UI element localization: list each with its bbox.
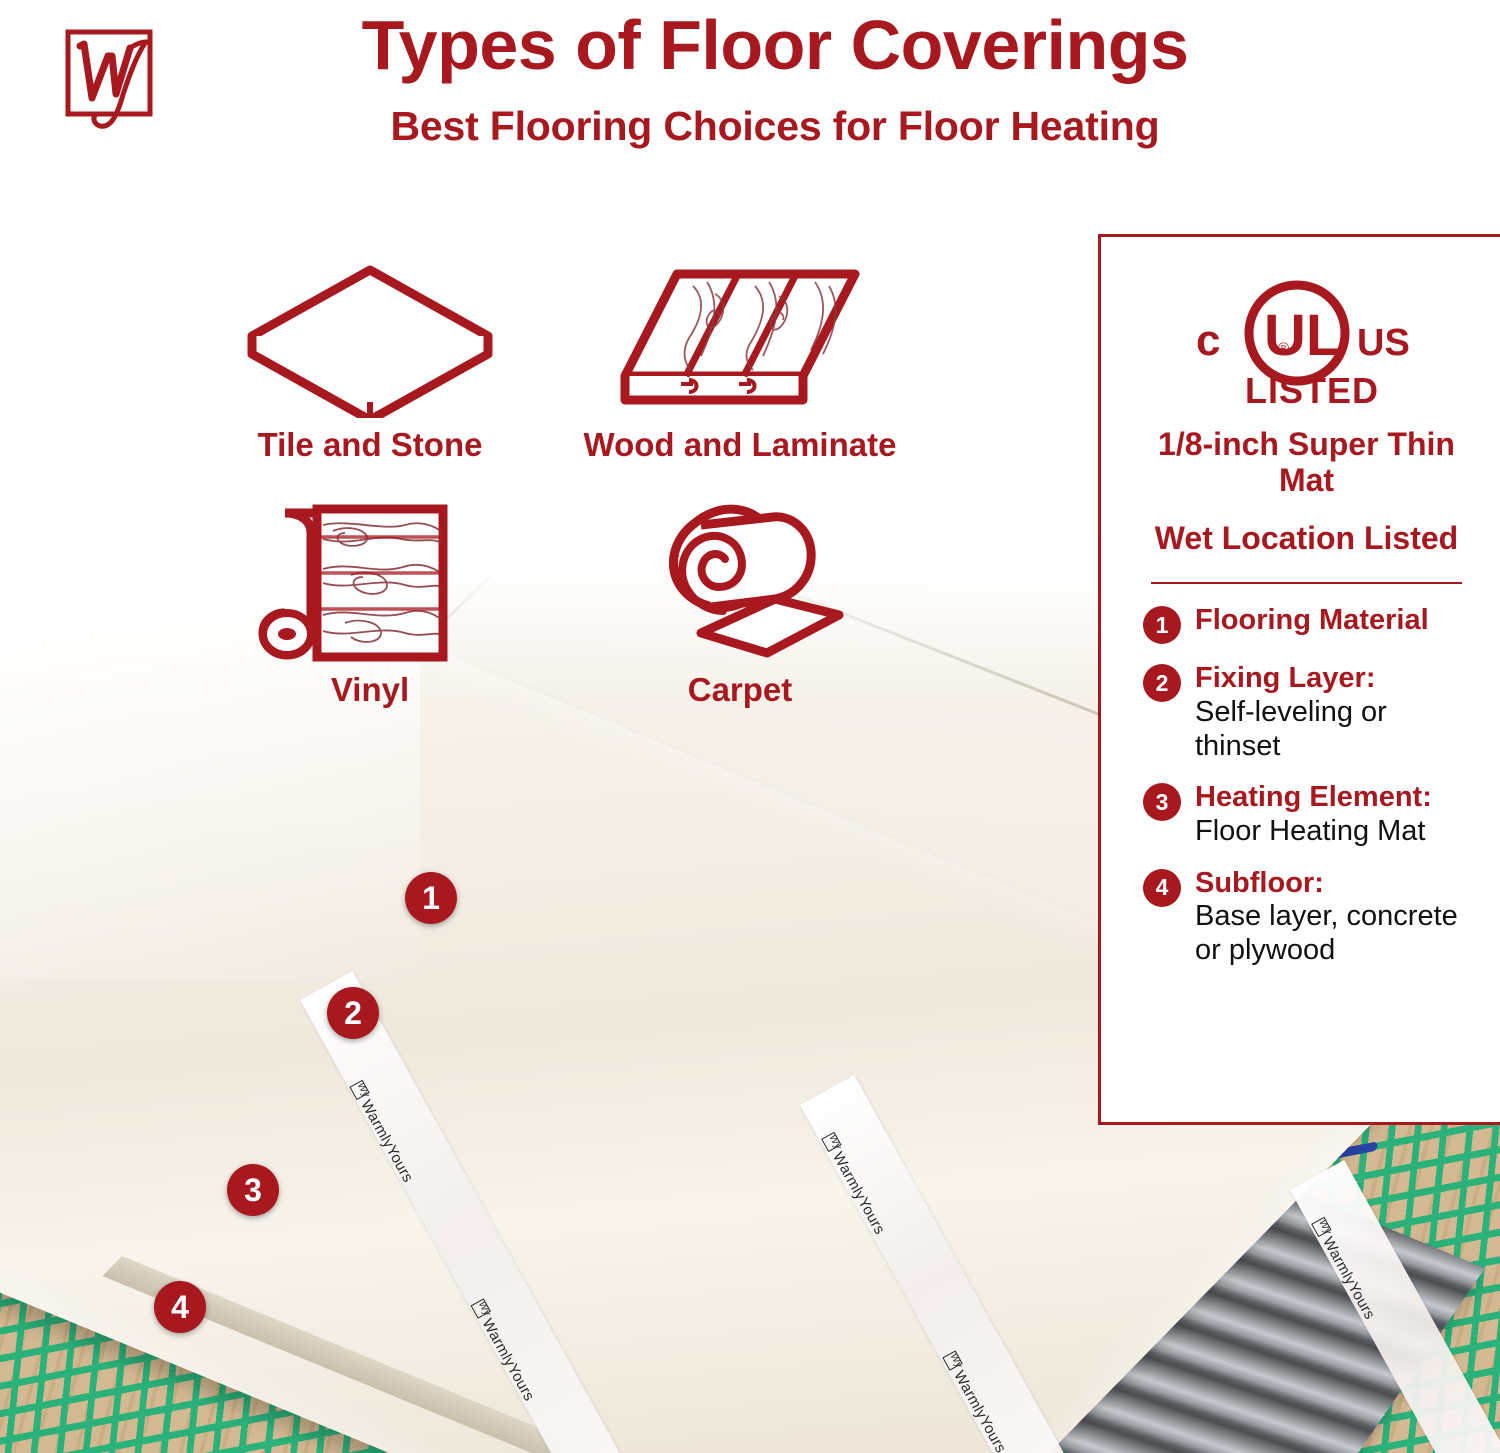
ul-registered-mark: ® [1278,340,1289,357]
wy-mark-icon [471,1298,491,1318]
panel-headline-thin-mat: 1/8-inch Super Thin Mat [1143,427,1470,499]
wy-mark-icon [942,1350,962,1370]
legend-text-4: Subfloor: Base layer, concrete or plywoo… [1195,867,1470,968]
legend-item-1: 1 Flooring Material [1143,604,1470,644]
page-header: Types of Floor Coverings Best Flooring C… [0,0,1500,190]
legend-text-2: Fixing Layer: Self-leveling or thinset [1195,662,1470,763]
ul-listed-icon: c UL ® US LISTED [1182,277,1432,409]
legend-text-3: Heating Element: Floor Heating Mat [1195,781,1432,848]
ul-us-letters: US [1357,322,1410,364]
legend-title-1: Flooring Material [1195,604,1429,638]
ul-c-letter: c [1196,316,1220,365]
ul-listed-word: LISTED [1245,370,1379,409]
legend-title-4: Subfloor: [1195,867,1470,901]
flooring-type-carpet: Carpet [540,500,940,709]
photo-callout-1: 1 [405,872,457,924]
flooring-type-label: Vinyl [170,671,570,709]
page-title: Types of Floor Coverings [200,10,1350,80]
flooring-type-wood-laminate: Wood and Laminate [540,255,940,464]
flooring-type-tile-stone: Tile and Stone [170,255,570,464]
panel-headline-wet-location: Wet Location Listed [1143,521,1470,557]
ul-mark-letters: UL [1264,303,1341,368]
page-subtitle: Best Flooring Choices for Floor Heating [200,103,1350,150]
photo-callout-2: 2 [327,987,379,1039]
wy-mark-icon [1311,1217,1331,1237]
flooring-types-grid: Tile and Stone [0,255,1060,765]
tile-stone-icon [240,258,500,418]
carpet-roll-icon [615,495,865,670]
wy-mark-icon [349,1080,369,1100]
photo-callout-4: 4 [154,1281,206,1333]
legend-item-4: 4 Subfloor: Base layer, concrete or plyw… [1143,867,1470,968]
vinyl-roll-icon [255,495,485,670]
photo-callout-3: 3 [227,1164,279,1216]
panel-divider [1151,582,1462,584]
flooring-type-label: Wood and Laminate [540,426,940,464]
legend-desc-4: Base layer, concrete or plywood [1195,900,1470,967]
wood-laminate-icon-wrap [540,255,940,420]
legend-title-3: Heating Element: [1195,781,1432,815]
wy-mark-icon [821,1132,841,1152]
legend-desc-2: Self-leveling or thinset [1195,696,1470,763]
flooring-type-vinyl: Vinyl [170,500,570,709]
flooring-type-label: Carpet [540,671,940,709]
warmlyyours-logo-icon [54,22,164,132]
legend-desc-3: Floor Heating Mat [1195,815,1432,849]
tile-stone-icon-wrap [170,255,570,420]
legend-badge-1: 1 [1143,606,1181,644]
legend-badge-3: 3 [1143,783,1181,821]
legend-text-1: Flooring Material [1195,604,1429,638]
wood-laminate-icon [615,260,865,415]
vinyl-roll-icon-wrap [170,500,570,665]
legend-badge-4: 4 [1143,869,1181,907]
legend-title-2: Fixing Layer: [1195,662,1470,696]
legend-badge-2: 2 [1143,664,1181,702]
legend-item-3: 3 Heating Element: Floor Heating Mat [1143,781,1470,848]
legend-item-2: 2 Fixing Layer: Self-leveling or thinset [1143,662,1470,763]
flooring-type-label: Tile and Stone [170,426,570,464]
carpet-roll-icon-wrap [540,500,940,665]
ul-info-panel: c UL ® US LISTED 1/8-inch Super Thin Mat… [1098,234,1500,1125]
